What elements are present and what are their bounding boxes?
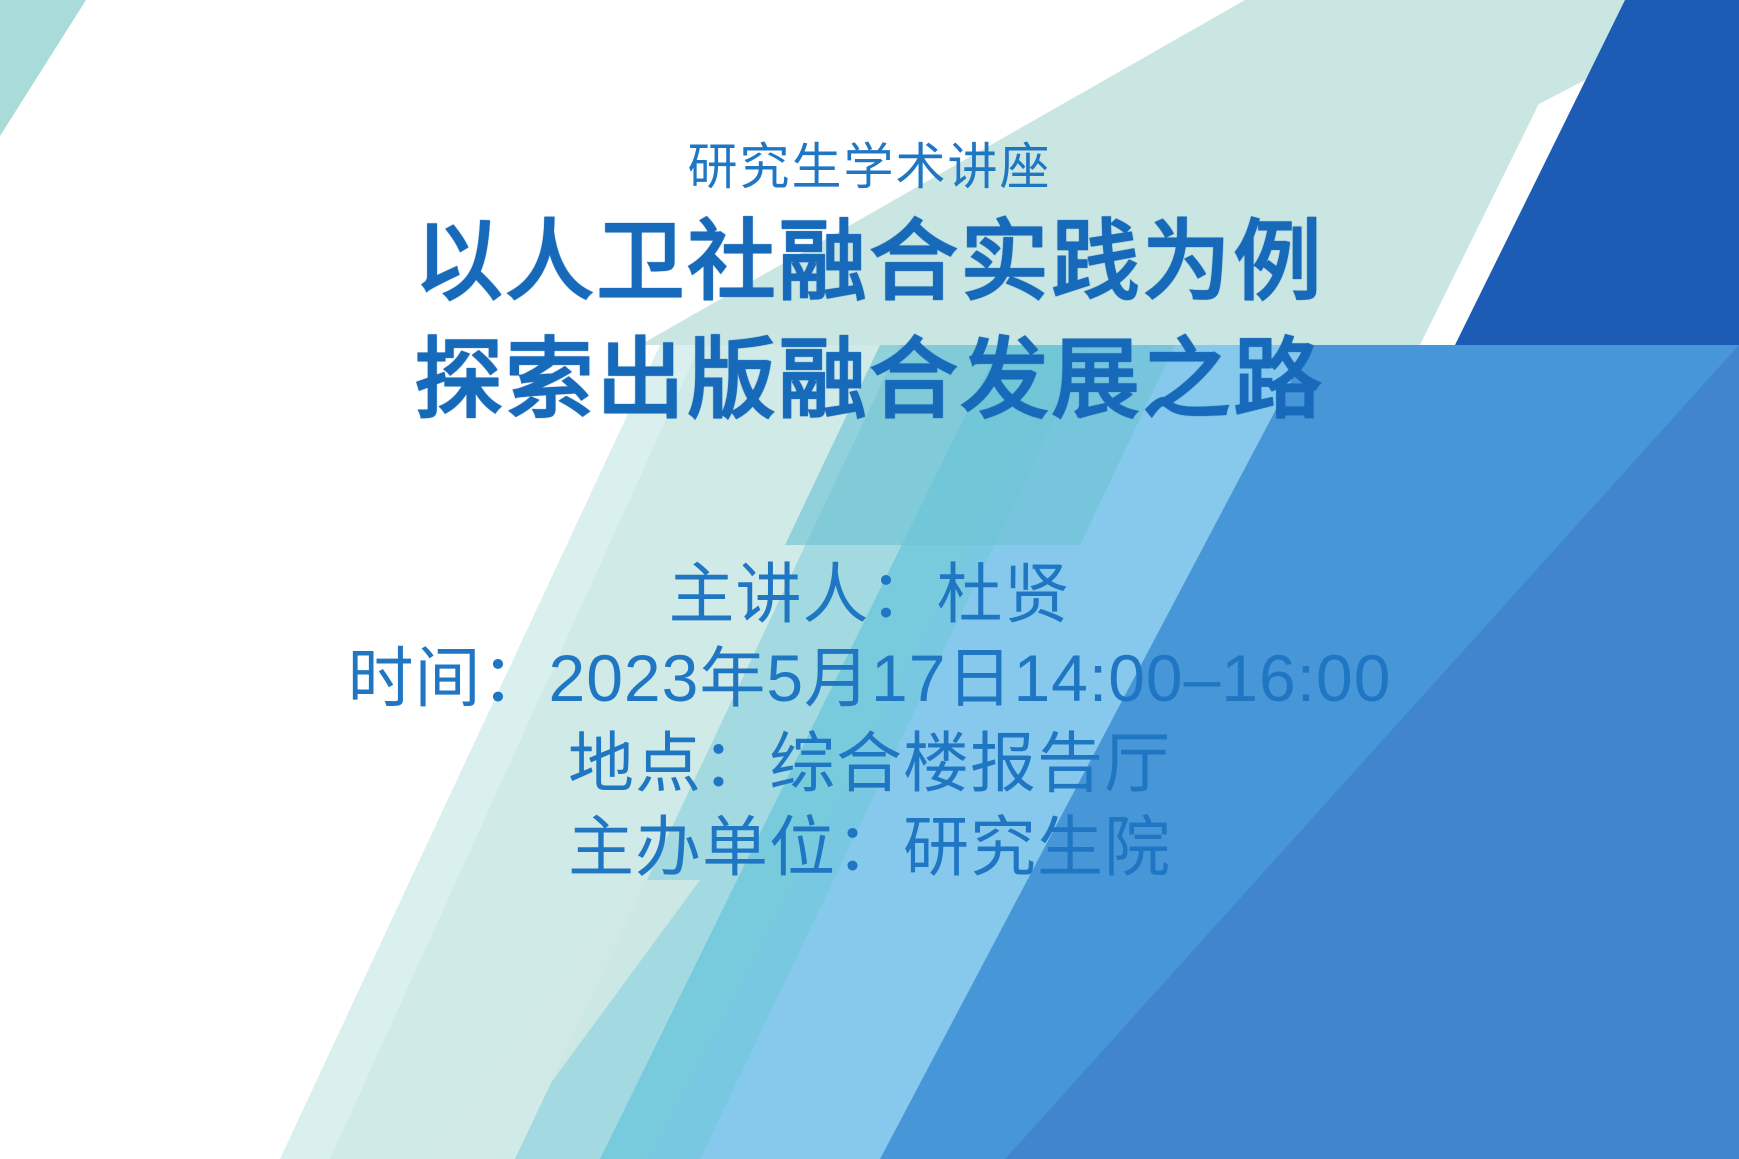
poster-details: 主讲人：杜贤 时间：2023年5月17日14:00–16:00 地点：综合楼报告… — [0, 552, 1739, 890]
detail-speaker: 主讲人：杜贤 — [0, 552, 1739, 636]
poster-title-line-1: 以人卫社融合实践为例 — [0, 214, 1739, 309]
seminar-poster: 研究生学术讲座 以人卫社融合实践为例 探索出版融合发展之路 主讲人：杜贤 时间：… — [0, 0, 1739, 1159]
poster-content: 研究生学术讲座 以人卫社融合实践为例 探索出版融合发展之路 主讲人：杜贤 时间：… — [0, 0, 1739, 1159]
detail-host: 主办单位：研究生院 — [0, 805, 1739, 889]
detail-time: 时间：2023年5月17日14:00–16:00 — [0, 636, 1739, 720]
poster-title-line-2: 探索出版融合发展之路 — [0, 332, 1739, 427]
poster-kicker: 研究生学术讲座 — [0, 142, 1739, 192]
detail-place: 地点：综合楼报告厅 — [0, 721, 1739, 805]
